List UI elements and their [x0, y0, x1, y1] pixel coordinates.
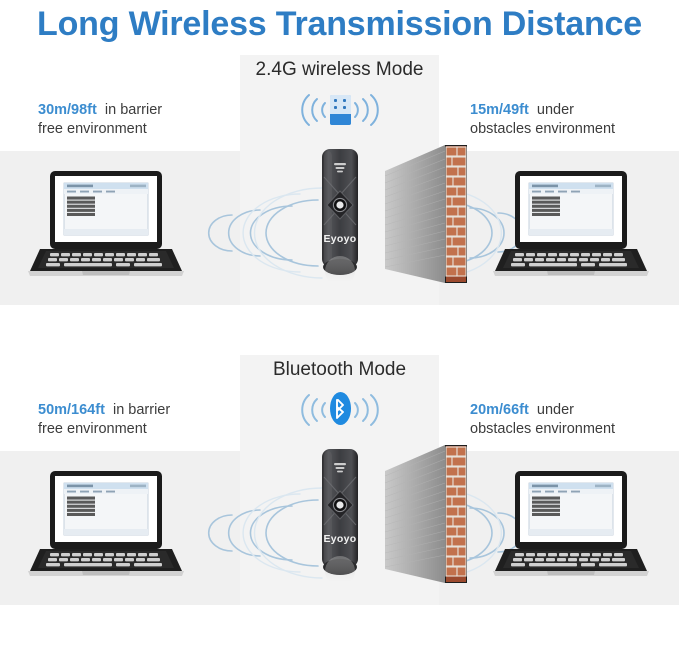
distance-condition: under — [537, 102, 574, 118]
distance-label-left-24g: 30m/98ft in barrier free environment — [38, 101, 162, 139]
distance-label-right-bluetooth: 20m/66ft under obstacles environment — [470, 401, 615, 439]
laptop-icon-right-24g — [487, 167, 655, 285]
svg-text:Eyoyo: Eyoyo — [323, 233, 356, 245]
badge-24g — [240, 89, 439, 131]
distance-label-left-bluetooth: 50m/164ft in barrier free environment — [38, 401, 170, 439]
distance-condition: under — [537, 402, 574, 418]
distance-condition: in barrier — [105, 102, 162, 118]
distance-condition: in barrier — [113, 402, 170, 418]
laptop-icon-left-bluetooth — [22, 467, 190, 585]
distance-condition-2: obstacles environment — [470, 421, 615, 437]
laptop-icon-right-bluetooth — [487, 467, 655, 585]
infographic-root: Long Wireless Transmission Distance 2.4G… — [0, 0, 679, 650]
distance-value: 15m/49ft — [470, 102, 529, 118]
page-title: Long Wireless Transmission Distance — [0, 0, 679, 48]
distance-value: 20m/66ft — [470, 402, 529, 418]
distance-value: 30m/98ft — [38, 102, 97, 118]
brick-wall-obstacle-bluetooth — [383, 443, 468, 595]
brick-wall-obstacle-24g — [383, 143, 468, 295]
svg-text:Eyoyo: Eyoyo — [323, 533, 356, 545]
section-bluetooth: Bluetooth Mode — [0, 355, 679, 645]
bluetooth-icon — [330, 392, 351, 425]
badge-bluetooth — [240, 389, 439, 431]
distance-condition-2: free environment — [38, 121, 147, 137]
laptop-icon-left-24g — [22, 167, 190, 285]
barcode-scanner-device-bluetooth: Eyoyo — [320, 447, 360, 589]
distance-condition-2: obstacles environment — [470, 121, 615, 137]
distance-label-right-24g: 15m/49ft under obstacles environment — [470, 101, 615, 139]
usb-dongle-icon — [330, 95, 351, 125]
barcode-scanner-device-24g: Eyoyo — [320, 147, 360, 289]
mode-title-bluetooth: Bluetooth Mode — [240, 359, 439, 381]
mode-title-24g: 2.4G wireless Mode — [240, 59, 439, 81]
section-wireless-24g: 2.4G wireless Mode — [0, 55, 679, 345]
distance-value: 50m/164ft — [38, 402, 105, 418]
distance-condition-2: free environment — [38, 421, 147, 437]
